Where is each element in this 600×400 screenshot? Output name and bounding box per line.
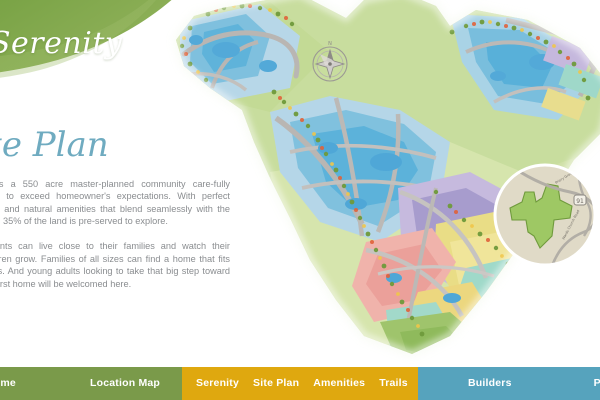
nav-item-home[interactable]: Home xyxy=(0,367,16,400)
nav-item-serenity[interactable]: Serenity xyxy=(196,367,239,400)
nav-item-trails[interactable]: Trails xyxy=(379,367,408,400)
intro-paragraph-1: Serenity is a 550 acre master-planned co… xyxy=(0,178,230,228)
header-banner: n Serenity xyxy=(0,0,320,90)
left-text-column: Site Plan Serenity is a 550 acre master-… xyxy=(0,128,238,290)
nav-group-builders: Builders Phase xyxy=(418,367,600,400)
brand-topword: n xyxy=(0,4,1,20)
nav-group-community: Serenity Site Plan Amenities Trails xyxy=(182,367,418,400)
intro-paragraph-2: Grandparents can live close to their fam… xyxy=(0,240,230,290)
nav-item-amenities[interactable]: Amenities xyxy=(313,367,365,400)
nav-item-site-plan[interactable]: Site Plan xyxy=(253,367,299,400)
highway-shield-label: 91 xyxy=(576,198,584,205)
nav-group-primary: Home Location Map xyxy=(0,367,182,400)
bottom-navigation[interactable]: Home Location Map Serenity Site Plan Ame… xyxy=(0,367,600,400)
nav-item-builders[interactable]: Builders xyxy=(468,367,512,400)
nav-item-phase[interactable]: Phase xyxy=(594,367,600,400)
nav-item-location-map[interactable]: Location Map xyxy=(90,367,160,400)
page-title: Site Plan xyxy=(0,128,238,164)
locator-inset-map[interactable]: 91 Priory Grove Hunts Road Wards Church … xyxy=(492,162,598,268)
svg-text:N: N xyxy=(328,41,332,47)
site-plan-page: n Serenity xyxy=(0,0,600,400)
brand-wordmark: Serenity xyxy=(0,26,122,61)
